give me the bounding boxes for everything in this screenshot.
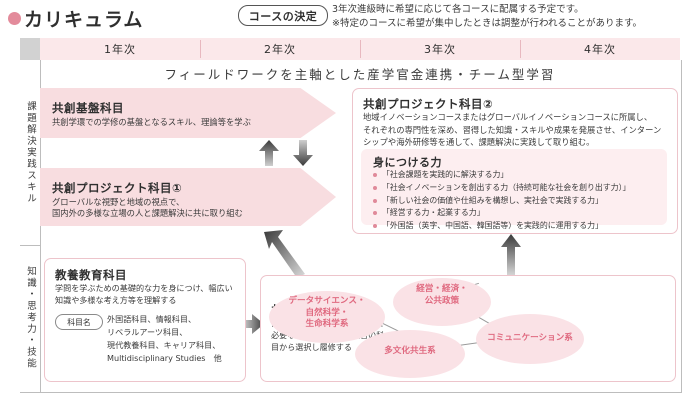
project2-desc: 地域イノベーションコースまたはグローバルイノベーションコースに所属し、 それぞれ… (363, 111, 669, 149)
year-cell-4: 4年次 (520, 38, 680, 60)
year-header-gutter (20, 38, 40, 60)
list-item: 「社会イノベーションを創出する力（持続可能な社会を創り出す力）」 (373, 182, 663, 195)
arrow-up-between-bands (258, 140, 280, 166)
year-cell-1: 1年次 (40, 38, 200, 60)
header-note: 3年次進級時に希望に応じて各コースに配属する予定です。 ※特定のコースに希望が集… (332, 3, 682, 31)
banner-text: フィールドワークを主軸とした産学官金連携・チーム型学習 (42, 62, 678, 84)
project1-desc-line2: 国内外の多様な立場の人と課題解決に共に取り組む (52, 207, 308, 219)
subject-line2: リベラルアーツ科目、 (107, 326, 241, 339)
arrow-down-between-bands (292, 140, 314, 166)
project2-card: 共創プロジェクト科目② 地域イノベーションコースまたはグローバルイノベーションコ… (352, 88, 678, 234)
bubble-datascience-line2: 自然科学・ (261, 308, 393, 320)
list-item: 「社会課題を実践的に解決する力」 (373, 169, 663, 182)
specialized-card: 共創専門科目 自らが課題解決に取り組む上で 必要な専門科目を文理融合の科 目から… (260, 275, 676, 382)
bubble-label-datascience: データサイエンス・ 自然科学・ 生命科学系 (261, 296, 393, 331)
subject-line3: 現代教養科目、キャリア科目、 (107, 339, 241, 352)
bubble-multicultural-line1: 多文化共生系 (355, 346, 465, 358)
side-label-divider (20, 245, 40, 246)
page-title: カリキュラム (24, 5, 143, 32)
bubble-label-management: 経営・経済・ 公共政策 (391, 284, 493, 307)
year-cell-2: 2年次 (200, 38, 360, 60)
course-decision-badge: コースの決定 (238, 5, 328, 26)
project2-desc-line2: それぞれの専門性を深め、習得した知識・スキルや成果を発展させ、インターン (363, 124, 669, 137)
bubble-datascience-line1: データサイエンス・ (261, 296, 393, 308)
abilities-panel: 身につける力 「社会課題を実践的に解決する力」 「社会イノベーションを創出する力… (361, 149, 667, 225)
liberal-arts-desc-line1: 学問を学ぶための基礎的な力を身につけ、幅広い (55, 282, 239, 294)
bubble-management-line1: 経営・経済・ (391, 284, 493, 296)
curriculum-diagram: カリキュラム コースの決定 3年次進級時に希望に応じて各コースに配属する予定です… (0, 0, 685, 400)
arrow-diagonal-to-project1 (262, 228, 308, 278)
bubble-datascience-line3: 生命科学系 (261, 319, 393, 331)
arrow-up-to-project2 (500, 234, 522, 276)
bubble-communication-line1: コミュニケーション系 (473, 333, 587, 345)
list-item: 「外国語（英字、中国語、韓国語等）を実践的に運用する力」 (373, 220, 663, 233)
list-item: 「新しい社会の価値や仕組みを構想し、実社会で実践する力」 (373, 195, 663, 208)
subject-line1: 外国語科目、情報科目、 (107, 313, 241, 326)
liberal-arts-desc: 学問を学ぶための基礎的な力を身につけ、幅広い 知識や多様な考え方等を理解する (55, 282, 239, 306)
header-note-line1: 3年次進級時に希望に応じて各コースに配属する予定です。 (332, 3, 682, 17)
liberal-arts-title: 教養教育科目 (55, 267, 127, 283)
bubble-label-communication: コミュニケーション系 (473, 333, 587, 345)
project2-title: 共創プロジェクト科目② (363, 96, 493, 112)
year-divider-3 (520, 40, 521, 58)
project2-desc-line1: 地域イノベーションコースまたはグローバルイノベーションコースに所属し、 (363, 111, 669, 124)
side-label-skills: 課題解決実践スキル (20, 78, 40, 228)
list-item: 「経営する力・起業する力」 (373, 207, 663, 220)
project2-desc-line3: シップや海外研修等を通して、課題解決に実践して取り組む。 (363, 136, 669, 149)
liberal-arts-card: 教養教育科目 学問を学ぶための基礎的な力を身につけ、幅広い 知識や多様な考え方等… (44, 258, 246, 382)
side-label-knowledge: 知識・思考力・技能 (20, 258, 40, 378)
bullet-dot-icon (8, 12, 21, 25)
page-header: カリキュラム コースの決定 3年次進級時に希望に応じて各コースに配属する予定です… (0, 0, 685, 36)
project1-title: 共創プロジェクト科目① (52, 180, 182, 196)
foundation-desc: 共創学環での学修の基盤となるスキル、理論等を学ぶ (52, 116, 302, 128)
abilities-title: 身につける力 (373, 154, 442, 170)
subject-name-badge: 科目名 (55, 314, 103, 330)
liberal-arts-desc-line2: 知識や多様な考え方等を理解する (55, 294, 239, 306)
year-divider-1 (200, 40, 201, 58)
year-divider-2 (360, 40, 361, 58)
bubble-label-multicultural: 多文化共生系 (355, 346, 465, 358)
bubble-management-line2: 公共政策 (391, 296, 493, 308)
subject-list: 外国語科目、情報科目、 リベラルアーツ科目、 現代教養科目、キャリア科目、 Mu… (107, 313, 241, 365)
header-note-line2: ※特定のコースに希望が集中したときは調整が行われることがあります。 (332, 17, 682, 31)
abilities-list: 「社会課題を実践的に解決する力」 「社会イノベーションを創出する力（持続可能な社… (373, 169, 663, 233)
foundation-title: 共創基盤科目 (52, 100, 124, 116)
subject-line4: Multidisciplinary Studies 他 (107, 352, 241, 365)
year-cell-3: 3年次 (360, 38, 520, 60)
